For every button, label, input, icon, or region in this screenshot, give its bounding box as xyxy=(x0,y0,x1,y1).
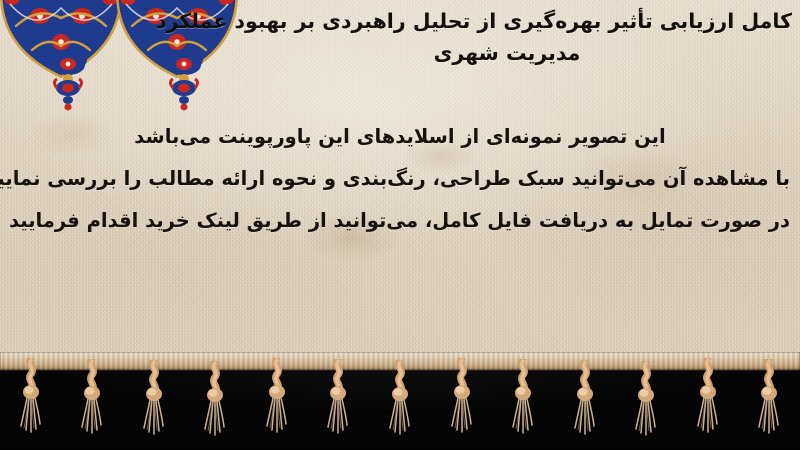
carpet-tassel xyxy=(510,359,536,441)
slide-title-line-2: مدیریت شهری xyxy=(222,38,792,69)
carpet-tassel xyxy=(695,358,721,440)
slide-title-line-1: کامل ارزیابی تأثیر بهره‌گیری از تحلیل را… xyxy=(222,6,792,37)
presentation-slide: کامل ارزیابی تأثیر بهره‌گیری از تحلیل را… xyxy=(0,0,800,450)
carpet-tassel xyxy=(572,360,598,442)
carpet-tassel xyxy=(79,359,105,441)
body-line-3: در صورت تمایل به دریافت فایل کامل، می‌تو… xyxy=(10,200,790,242)
slide-body-text: این تصویر نمونه‌ای از اسلایدهای این پاور… xyxy=(10,116,790,242)
carpet-tassel xyxy=(264,358,290,440)
carpet-tassel xyxy=(387,360,413,442)
carpet-tassel xyxy=(756,359,782,441)
carpet-tassel xyxy=(141,360,167,442)
carpet-fringe xyxy=(0,352,800,450)
body-line-2: با مشاهده آن می‌توانید سبک طراحی، رنگ‌بن… xyxy=(10,158,790,200)
carpet-tassel xyxy=(18,358,44,440)
carpet-tassel xyxy=(449,358,475,440)
carpet-tassel xyxy=(202,361,228,443)
slide-title: کامل ارزیابی تأثیر بهره‌گیری از تحلیل را… xyxy=(222,6,792,69)
carpet-tassel xyxy=(633,361,659,443)
body-line-1: این تصویر نمونه‌ای از اسلایدهای این پاور… xyxy=(10,116,790,158)
carpet-tassel xyxy=(325,359,351,441)
